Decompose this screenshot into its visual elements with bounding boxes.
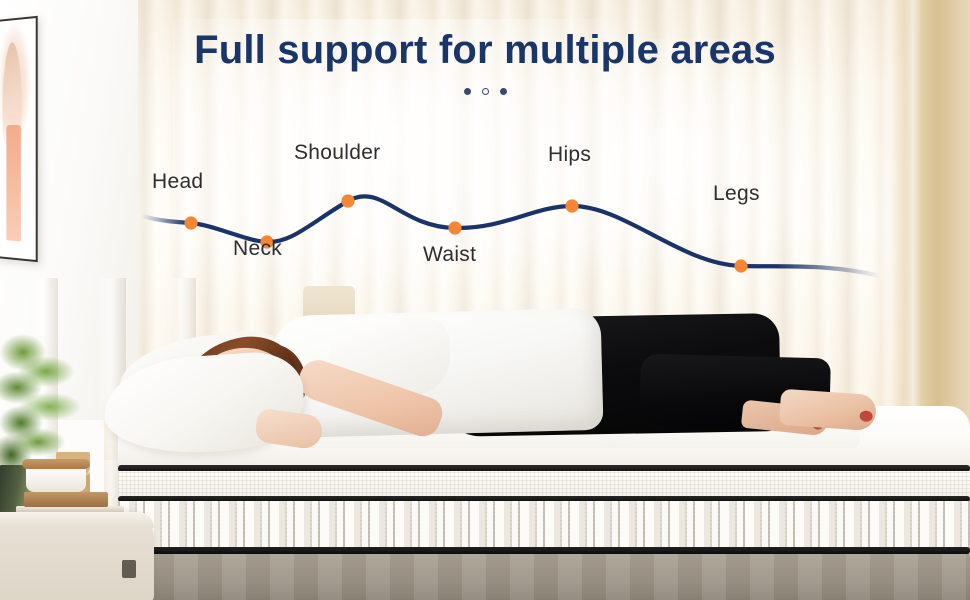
- support-curve-chart: [0, 0, 970, 320]
- label-shoulder: Shoulder: [294, 141, 380, 165]
- marker-head: [184, 216, 197, 229]
- label-waist: Waist: [423, 243, 476, 267]
- person-foot-front: [779, 389, 877, 432]
- marker-shoulder: [341, 194, 354, 207]
- bowl-lid: [22, 459, 90, 469]
- label-hips: Hips: [548, 143, 591, 167]
- label-head: Head: [152, 170, 203, 194]
- nightstand-top: [0, 512, 154, 528]
- nightstand-handle: [122, 560, 136, 578]
- label-neck: Neck: [233, 237, 282, 261]
- marker-legs: [734, 259, 747, 272]
- book-upper: [24, 492, 108, 507]
- mattress-trim-lower: [118, 547, 970, 554]
- label-legs: Legs: [713, 182, 760, 206]
- promo-banner: Full support for multiple areas Head Nec…: [0, 0, 970, 600]
- nightstand: [0, 512, 154, 600]
- marker-waist: [448, 221, 461, 234]
- mattress-pocket-spring-panel: [118, 501, 970, 549]
- mattress-side-band: [118, 471, 970, 497]
- marker-hips: [565, 199, 578, 212]
- toenail: [859, 410, 873, 422]
